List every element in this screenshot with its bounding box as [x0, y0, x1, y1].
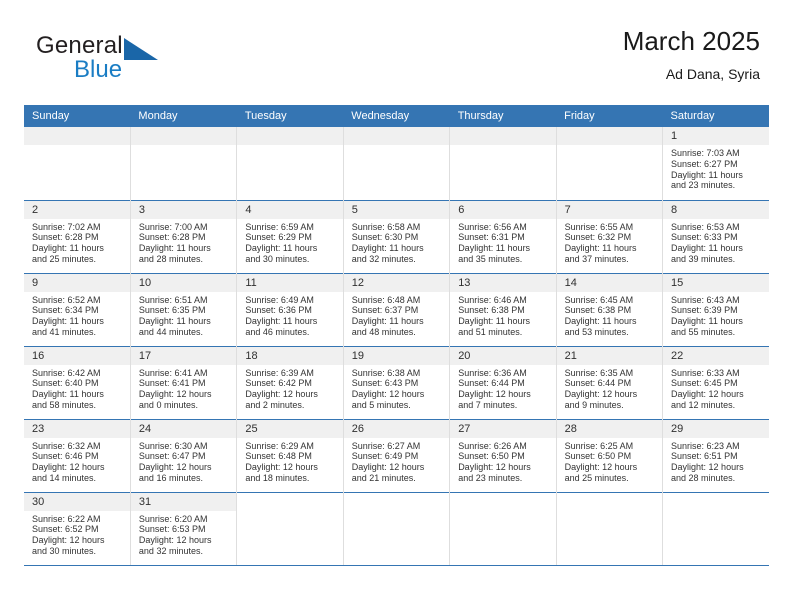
- calendar-day-cell[interactable]: 24Sunrise: 6:30 AMSunset: 6:47 PMDayligh…: [130, 419, 236, 492]
- calendar-day-cell[interactable]: 1Sunrise: 7:03 AMSunset: 6:27 PMDaylight…: [663, 127, 769, 200]
- sunset-text: Sunset: 6:38 PM: [565, 305, 658, 316]
- day-info: Sunrise: 6:30 AMSunset: 6:47 PMDaylight:…: [131, 438, 236, 484]
- daylight-text-line1: Daylight: 11 hours: [352, 243, 445, 254]
- page-title: March 2025: [623, 24, 760, 58]
- sunset-text: Sunset: 6:41 PM: [139, 378, 232, 389]
- daylight-text-line1: Daylight: 12 hours: [32, 462, 126, 473]
- calendar-day-cell[interactable]: 6Sunrise: 6:56 AMSunset: 6:31 PMDaylight…: [450, 200, 556, 273]
- day-number: 1: [663, 127, 769, 145]
- calendar-day-cell[interactable]: 3Sunrise: 7:00 AMSunset: 6:28 PMDaylight…: [130, 200, 236, 273]
- calendar-page: General Blue March 2025 Ad Dana, Syria S…: [0, 0, 792, 612]
- calendar-body: 1Sunrise: 7:03 AMSunset: 6:27 PMDaylight…: [24, 127, 769, 565]
- sunset-text: Sunset: 6:49 PM: [352, 451, 445, 462]
- day-number: 18: [237, 347, 342, 365]
- daylight-text-line1: Daylight: 12 hours: [245, 462, 338, 473]
- daylight-text-line1: Daylight: 11 hours: [352, 316, 445, 327]
- sunset-text: Sunset: 6:52 PM: [32, 524, 126, 535]
- day-info: Sunrise: 6:23 AMSunset: 6:51 PMDaylight:…: [663, 438, 769, 484]
- day-info: Sunrise: 6:43 AMSunset: 6:39 PMDaylight:…: [663, 292, 769, 338]
- daylight-text-line2: and 55 minutes.: [671, 327, 765, 338]
- day-number: 30: [24, 493, 130, 511]
- title-block: March 2025 Ad Dana, Syria: [623, 24, 760, 84]
- day-number: 25: [237, 420, 342, 438]
- day-number: 10: [131, 274, 236, 292]
- day-info: Sunrise: 6:41 AMSunset: 6:41 PMDaylight:…: [131, 365, 236, 411]
- calendar-week-row: 1Sunrise: 7:03 AMSunset: 6:27 PMDaylight…: [24, 127, 769, 200]
- daylight-text-line1: Daylight: 12 hours: [139, 462, 232, 473]
- day-number: 24: [131, 420, 236, 438]
- calendar-week-row: 9Sunrise: 6:52 AMSunset: 6:34 PMDaylight…: [24, 273, 769, 346]
- daylight-text-line2: and 30 minutes.: [32, 546, 126, 557]
- sunrise-text: Sunrise: 6:59 AM: [245, 222, 338, 233]
- day-info: Sunrise: 6:48 AMSunset: 6:37 PMDaylight:…: [344, 292, 449, 338]
- day-info: Sunrise: 6:32 AMSunset: 6:46 PMDaylight:…: [24, 438, 130, 484]
- sunset-text: Sunset: 6:35 PM: [139, 305, 232, 316]
- calendar-cell-empty: [130, 127, 236, 200]
- calendar-week-row: 16Sunrise: 6:42 AMSunset: 6:40 PMDayligh…: [24, 346, 769, 419]
- daylight-text-line1: Daylight: 11 hours: [458, 243, 551, 254]
- daylight-text-line2: and 37 minutes.: [565, 254, 658, 265]
- daylight-text-line2: and 5 minutes.: [352, 400, 445, 411]
- sunset-text: Sunset: 6:40 PM: [32, 378, 126, 389]
- calendar-day-cell[interactable]: 14Sunrise: 6:45 AMSunset: 6:38 PMDayligh…: [556, 273, 662, 346]
- day-number: 13: [450, 274, 555, 292]
- day-info: Sunrise: 6:55 AMSunset: 6:32 PMDaylight:…: [557, 219, 662, 265]
- calendar-cell-empty: [24, 127, 130, 200]
- day-number: 11: [237, 274, 342, 292]
- day-info: Sunrise: 6:56 AMSunset: 6:31 PMDaylight:…: [450, 219, 555, 265]
- calendar-day-cell[interactable]: 18Sunrise: 6:39 AMSunset: 6:42 PMDayligh…: [237, 346, 343, 419]
- weekday-header-row: Sunday Monday Tuesday Wednesday Thursday…: [24, 105, 769, 127]
- day-info: Sunrise: 6:59 AMSunset: 6:29 PMDaylight:…: [237, 219, 342, 265]
- sunset-text: Sunset: 6:29 PM: [245, 232, 338, 243]
- sunset-text: Sunset: 6:50 PM: [565, 451, 658, 462]
- sunrise-text: Sunrise: 6:49 AM: [245, 295, 338, 306]
- daylight-text-line1: Daylight: 12 hours: [352, 462, 445, 473]
- daylight-text-line1: Daylight: 12 hours: [565, 389, 658, 400]
- sunset-text: Sunset: 6:28 PM: [139, 232, 232, 243]
- daylight-text-line2: and 44 minutes.: [139, 327, 232, 338]
- day-number: [557, 127, 662, 145]
- day-info: Sunrise: 7:02 AMSunset: 6:28 PMDaylight:…: [24, 219, 130, 265]
- daylight-text-line2: and 18 minutes.: [245, 473, 338, 484]
- sunrise-text: Sunrise: 7:00 AM: [139, 222, 232, 233]
- calendar-cell-blank: [237, 492, 343, 565]
- day-number: 17: [131, 347, 236, 365]
- sunrise-text: Sunrise: 6:48 AM: [352, 295, 445, 306]
- day-number: 21: [557, 347, 662, 365]
- day-number: 22: [663, 347, 769, 365]
- day-info: Sunrise: 6:27 AMSunset: 6:49 PMDaylight:…: [344, 438, 449, 484]
- sunset-text: Sunset: 6:42 PM: [245, 378, 338, 389]
- calendar-day-cell[interactable]: 10Sunrise: 6:51 AMSunset: 6:35 PMDayligh…: [130, 273, 236, 346]
- day-info: Sunrise: 6:52 AMSunset: 6:34 PMDaylight:…: [24, 292, 130, 338]
- day-number: [131, 127, 236, 145]
- daylight-text-line2: and 28 minutes.: [139, 254, 232, 265]
- sunrise-text: Sunrise: 6:53 AM: [671, 222, 765, 233]
- sunset-text: Sunset: 6:50 PM: [458, 451, 551, 462]
- daylight-text-line1: Daylight: 11 hours: [565, 316, 658, 327]
- day-info: Sunrise: 6:49 AMSunset: 6:36 PMDaylight:…: [237, 292, 342, 338]
- daylight-text-line1: Daylight: 11 hours: [671, 316, 765, 327]
- sunrise-text: Sunrise: 6:39 AM: [245, 368, 338, 379]
- calendar-day-cell[interactable]: 12Sunrise: 6:48 AMSunset: 6:37 PMDayligh…: [343, 273, 449, 346]
- day-info: Sunrise: 6:45 AMSunset: 6:38 PMDaylight:…: [557, 292, 662, 338]
- day-number: [450, 127, 555, 145]
- sunset-text: Sunset: 6:32 PM: [565, 232, 658, 243]
- calendar-week-row: 23Sunrise: 6:32 AMSunset: 6:46 PMDayligh…: [24, 419, 769, 492]
- daylight-text-line2: and 41 minutes.: [32, 327, 126, 338]
- daylight-text-line1: Daylight: 11 hours: [671, 170, 765, 181]
- daylight-text-line1: Daylight: 12 hours: [671, 462, 765, 473]
- daylight-text-line1: Daylight: 11 hours: [671, 243, 765, 254]
- calendar-day-cell[interactable]: 7Sunrise: 6:55 AMSunset: 6:32 PMDaylight…: [556, 200, 662, 273]
- day-info: Sunrise: 7:00 AMSunset: 6:28 PMDaylight:…: [131, 219, 236, 265]
- daylight-text-line1: Daylight: 11 hours: [139, 243, 232, 254]
- sunset-text: Sunset: 6:43 PM: [352, 378, 445, 389]
- sunrise-text: Sunrise: 6:26 AM: [458, 441, 551, 452]
- calendar-week-row: 30Sunrise: 6:22 AMSunset: 6:52 PMDayligh…: [24, 492, 769, 565]
- day-info: Sunrise: 6:33 AMSunset: 6:45 PMDaylight:…: [663, 365, 769, 411]
- brand-name-blue: Blue: [74, 56, 122, 84]
- daylight-text-line2: and 32 minutes.: [352, 254, 445, 265]
- day-info: Sunrise: 6:38 AMSunset: 6:43 PMDaylight:…: [344, 365, 449, 411]
- day-number: 20: [450, 347, 555, 365]
- sunset-text: Sunset: 6:27 PM: [671, 159, 765, 170]
- sunrise-text: Sunrise: 6:46 AM: [458, 295, 551, 306]
- sunset-text: Sunset: 6:33 PM: [671, 232, 765, 243]
- calendar-cell-blank: [556, 492, 662, 565]
- sunset-text: Sunset: 6:38 PM: [458, 305, 551, 316]
- day-number: 14: [557, 274, 662, 292]
- sunrise-text: Sunrise: 7:02 AM: [32, 222, 126, 233]
- day-number: 23: [24, 420, 130, 438]
- calendar-day-cell[interactable]: 15Sunrise: 6:43 AMSunset: 6:39 PMDayligh…: [663, 273, 769, 346]
- sunrise-text: Sunrise: 6:22 AM: [32, 514, 126, 525]
- sunset-text: Sunset: 6:46 PM: [32, 451, 126, 462]
- daylight-text-line1: Daylight: 12 hours: [352, 389, 445, 400]
- weekday-header-friday: Friday: [556, 105, 662, 127]
- sunrise-text: Sunrise: 6:45 AM: [565, 295, 658, 306]
- calendar-day-cell[interactable]: 17Sunrise: 6:41 AMSunset: 6:41 PMDayligh…: [130, 346, 236, 419]
- day-number: 12: [344, 274, 449, 292]
- sunrise-text: Sunrise: 6:32 AM: [32, 441, 126, 452]
- sunset-text: Sunset: 6:30 PM: [352, 232, 445, 243]
- calendar-day-cell[interactable]: 31Sunrise: 6:20 AMSunset: 6:53 PMDayligh…: [130, 492, 236, 565]
- calendar-day-cell[interactable]: 4Sunrise: 6:59 AMSunset: 6:29 PMDaylight…: [237, 200, 343, 273]
- daylight-text-line2: and 7 minutes.: [458, 400, 551, 411]
- sunset-text: Sunset: 6:37 PM: [352, 305, 445, 316]
- day-number: 19: [344, 347, 449, 365]
- sunrise-text: Sunrise: 6:30 AM: [139, 441, 232, 452]
- calendar-day-cell[interactable]: 20Sunrise: 6:36 AMSunset: 6:44 PMDayligh…: [450, 346, 556, 419]
- sunrise-text: Sunrise: 6:52 AM: [32, 295, 126, 306]
- daylight-text-line2: and 48 minutes.: [352, 327, 445, 338]
- day-info: Sunrise: 6:25 AMSunset: 6:50 PMDaylight:…: [557, 438, 662, 484]
- daylight-text-line1: Daylight: 11 hours: [245, 316, 338, 327]
- day-number: [237, 127, 342, 145]
- day-number: 28: [557, 420, 662, 438]
- calendar-day-cell[interactable]: 27Sunrise: 6:26 AMSunset: 6:50 PMDayligh…: [450, 419, 556, 492]
- weekday-header-sunday: Sunday: [24, 105, 130, 127]
- day-info: Sunrise: 7:03 AMSunset: 6:27 PMDaylight:…: [663, 145, 769, 191]
- daylight-text-line2: and 39 minutes.: [671, 254, 765, 265]
- daylight-text-line1: Daylight: 12 hours: [32, 535, 126, 546]
- calendar-day-cell[interactable]: 26Sunrise: 6:27 AMSunset: 6:49 PMDayligh…: [343, 419, 449, 492]
- calendar-day-cell[interactable]: 29Sunrise: 6:23 AMSunset: 6:51 PMDayligh…: [663, 419, 769, 492]
- daylight-text-line1: Daylight: 11 hours: [32, 389, 126, 400]
- weekday-header-thursday: Thursday: [450, 105, 556, 127]
- daylight-text-line2: and 58 minutes.: [32, 400, 126, 411]
- daylight-text-line1: Daylight: 11 hours: [139, 316, 232, 327]
- daylight-text-line2: and 9 minutes.: [565, 400, 658, 411]
- daylight-text-line1: Daylight: 12 hours: [139, 535, 232, 546]
- daylight-text-line1: Daylight: 11 hours: [245, 243, 338, 254]
- daylight-text-line2: and 0 minutes.: [139, 400, 232, 411]
- calendar-cell-empty: [343, 127, 449, 200]
- sunrise-text: Sunrise: 7:03 AM: [671, 148, 765, 159]
- calendar-day-cell[interactable]: 23Sunrise: 6:32 AMSunset: 6:46 PMDayligh…: [24, 419, 130, 492]
- sunrise-text: Sunrise: 6:55 AM: [565, 222, 658, 233]
- daylight-text-line2: and 21 minutes.: [352, 473, 445, 484]
- daylight-text-line2: and 25 minutes.: [565, 473, 658, 484]
- sunrise-text: Sunrise: 6:51 AM: [139, 295, 232, 306]
- sunset-text: Sunset: 6:45 PM: [671, 378, 765, 389]
- sunrise-text: Sunrise: 6:58 AM: [352, 222, 445, 233]
- sunrise-text: Sunrise: 6:35 AM: [565, 368, 658, 379]
- calendar-day-cell[interactable]: 9Sunrise: 6:52 AMSunset: 6:34 PMDaylight…: [24, 273, 130, 346]
- day-info: Sunrise: 6:39 AMSunset: 6:42 PMDaylight:…: [237, 365, 342, 411]
- day-number: 16: [24, 347, 130, 365]
- calendar-day-cell[interactable]: 5Sunrise: 6:58 AMSunset: 6:30 PMDaylight…: [343, 200, 449, 273]
- calendar-day-cell[interactable]: 2Sunrise: 7:02 AMSunset: 6:28 PMDaylight…: [24, 200, 130, 273]
- day-info: Sunrise: 6:35 AMSunset: 6:44 PMDaylight:…: [557, 365, 662, 411]
- daylight-text-line1: Daylight: 11 hours: [458, 316, 551, 327]
- daylight-text-line2: and 53 minutes.: [565, 327, 658, 338]
- calendar-cell-empty: [556, 127, 662, 200]
- daylight-text-line2: and 35 minutes.: [458, 254, 551, 265]
- calendar-week-row: 2Sunrise: 7:02 AMSunset: 6:28 PMDaylight…: [24, 200, 769, 273]
- day-number: 26: [344, 420, 449, 438]
- sunset-text: Sunset: 6:51 PM: [671, 451, 765, 462]
- calendar-cell-empty: [450, 127, 556, 200]
- daylight-text-line1: Daylight: 12 hours: [458, 462, 551, 473]
- weekday-header-monday: Monday: [130, 105, 236, 127]
- sunset-text: Sunset: 6:44 PM: [565, 378, 658, 389]
- daylight-text-line1: Daylight: 12 hours: [139, 389, 232, 400]
- daylight-text-line2: and 51 minutes.: [458, 327, 551, 338]
- day-number: 5: [344, 201, 449, 219]
- sunrise-text: Sunrise: 6:20 AM: [139, 514, 232, 525]
- day-number: 15: [663, 274, 769, 292]
- sunrise-text: Sunrise: 6:41 AM: [139, 368, 232, 379]
- page-header: General Blue March 2025 Ad Dana, Syria: [24, 24, 768, 96]
- day-number: 6: [450, 201, 555, 219]
- sunrise-text: Sunrise: 6:38 AM: [352, 368, 445, 379]
- day-number: 3: [131, 201, 236, 219]
- daylight-text-line2: and 23 minutes.: [458, 473, 551, 484]
- calendar-cell-blank: [450, 492, 556, 565]
- sunset-text: Sunset: 6:34 PM: [32, 305, 126, 316]
- weekday-header-saturday: Saturday: [663, 105, 769, 127]
- day-number: 9: [24, 274, 130, 292]
- calendar-day-cell[interactable]: 8Sunrise: 6:53 AMSunset: 6:33 PMDaylight…: [663, 200, 769, 273]
- daylight-text-line2: and 2 minutes.: [245, 400, 338, 411]
- sunrise-text: Sunrise: 6:27 AM: [352, 441, 445, 452]
- sunset-text: Sunset: 6:28 PM: [32, 232, 126, 243]
- day-number: 2: [24, 201, 130, 219]
- daylight-text-line2: and 14 minutes.: [32, 473, 126, 484]
- calendar-day-cell[interactable]: 16Sunrise: 6:42 AMSunset: 6:40 PMDayligh…: [24, 346, 130, 419]
- calendar-day-cell[interactable]: 21Sunrise: 6:35 AMSunset: 6:44 PMDayligh…: [556, 346, 662, 419]
- daylight-text-line2: and 46 minutes.: [245, 327, 338, 338]
- daylight-text-line1: Daylight: 12 hours: [671, 389, 765, 400]
- calendar-cell-blank: [343, 492, 449, 565]
- sunrise-text: Sunrise: 6:36 AM: [458, 368, 551, 379]
- sunset-text: Sunset: 6:39 PM: [671, 305, 765, 316]
- day-info: Sunrise: 6:26 AMSunset: 6:50 PMDaylight:…: [450, 438, 555, 484]
- sunrise-text: Sunrise: 6:23 AM: [671, 441, 765, 452]
- triangle-logo-icon: [124, 36, 158, 60]
- sunrise-text: Sunrise: 6:56 AM: [458, 222, 551, 233]
- day-info: Sunrise: 6:20 AMSunset: 6:53 PMDaylight:…: [131, 511, 236, 557]
- day-number: 4: [237, 201, 342, 219]
- sunrise-text: Sunrise: 6:43 AM: [671, 295, 765, 306]
- page-subtitle: Ad Dana, Syria: [623, 64, 760, 84]
- daylight-text-line1: Daylight: 12 hours: [458, 389, 551, 400]
- sunrise-text: Sunrise: 6:29 AM: [245, 441, 338, 452]
- day-info: Sunrise: 6:29 AMSunset: 6:48 PMDaylight:…: [237, 438, 342, 484]
- sunset-text: Sunset: 6:53 PM: [139, 524, 232, 535]
- day-info: Sunrise: 6:36 AMSunset: 6:44 PMDaylight:…: [450, 365, 555, 411]
- day-number: [24, 127, 130, 145]
- day-number: 7: [557, 201, 662, 219]
- sunrise-text: Sunrise: 6:25 AM: [565, 441, 658, 452]
- sunrise-text: Sunrise: 6:42 AM: [32, 368, 126, 379]
- calendar-day-cell[interactable]: 19Sunrise: 6:38 AMSunset: 6:43 PMDayligh…: [343, 346, 449, 419]
- sunset-text: Sunset: 6:31 PM: [458, 232, 551, 243]
- daylight-text-line2: and 32 minutes.: [139, 546, 232, 557]
- calendar-day-cell[interactable]: 25Sunrise: 6:29 AMSunset: 6:48 PMDayligh…: [237, 419, 343, 492]
- day-info: Sunrise: 6:51 AMSunset: 6:35 PMDaylight:…: [131, 292, 236, 338]
- weekday-header-wednesday: Wednesday: [343, 105, 449, 127]
- daylight-text-line1: Daylight: 12 hours: [565, 462, 658, 473]
- calendar-cell-blank: [663, 492, 769, 565]
- sunset-text: Sunset: 6:48 PM: [245, 451, 338, 462]
- daylight-text-line2: and 16 minutes.: [139, 473, 232, 484]
- daylight-text-line1: Daylight: 11 hours: [32, 243, 126, 254]
- day-info: Sunrise: 6:53 AMSunset: 6:33 PMDaylight:…: [663, 219, 769, 265]
- daylight-text-line2: and 28 minutes.: [671, 473, 765, 484]
- daylight-text-line2: and 25 minutes.: [32, 254, 126, 265]
- calendar-cell-empty: [237, 127, 343, 200]
- calendar-table: Sunday Monday Tuesday Wednesday Thursday…: [24, 105, 769, 566]
- daylight-text-line2: and 12 minutes.: [671, 400, 765, 411]
- day-number: 27: [450, 420, 555, 438]
- day-info: Sunrise: 6:22 AMSunset: 6:52 PMDaylight:…: [24, 511, 130, 557]
- daylight-text-line1: Daylight: 12 hours: [245, 389, 338, 400]
- calendar-day-cell[interactable]: 30Sunrise: 6:22 AMSunset: 6:52 PMDayligh…: [24, 492, 130, 565]
- day-number: [344, 127, 449, 145]
- day-info: Sunrise: 6:42 AMSunset: 6:40 PMDaylight:…: [24, 365, 130, 411]
- day-number: 31: [131, 493, 236, 511]
- daylight-text-line1: Daylight: 11 hours: [565, 243, 658, 254]
- sunrise-text: Sunrise: 6:33 AM: [671, 368, 765, 379]
- day-number: 29: [663, 420, 769, 438]
- sunset-text: Sunset: 6:44 PM: [458, 378, 551, 389]
- sunset-text: Sunset: 6:36 PM: [245, 305, 338, 316]
- day-info: Sunrise: 6:58 AMSunset: 6:30 PMDaylight:…: [344, 219, 449, 265]
- sunset-text: Sunset: 6:47 PM: [139, 451, 232, 462]
- brand-logo[interactable]: General Blue: [36, 32, 216, 92]
- calendar-day-cell[interactable]: 11Sunrise: 6:49 AMSunset: 6:36 PMDayligh…: [237, 273, 343, 346]
- daylight-text-line2: and 23 minutes.: [671, 180, 765, 191]
- daylight-text-line1: Daylight: 11 hours: [32, 316, 126, 327]
- day-info: Sunrise: 6:46 AMSunset: 6:38 PMDaylight:…: [450, 292, 555, 338]
- daylight-text-line2: and 30 minutes.: [245, 254, 338, 265]
- weekday-header-tuesday: Tuesday: [237, 105, 343, 127]
- calendar-day-cell[interactable]: 28Sunrise: 6:25 AMSunset: 6:50 PMDayligh…: [556, 419, 662, 492]
- day-number: 8: [663, 201, 769, 219]
- calendar-day-cell[interactable]: 13Sunrise: 6:46 AMSunset: 6:38 PMDayligh…: [450, 273, 556, 346]
- calendar-day-cell[interactable]: 22Sunrise: 6:33 AMSunset: 6:45 PMDayligh…: [663, 346, 769, 419]
